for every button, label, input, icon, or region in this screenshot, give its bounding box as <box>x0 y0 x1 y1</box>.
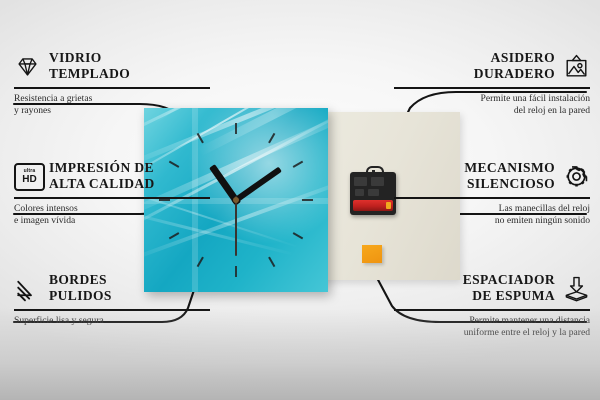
feature-subtitle: Colores intensos e imagen vívida <box>14 203 210 228</box>
feature-title: ESPACIADOR DE ESPUMA <box>463 272 555 305</box>
ultra-hd-icon: ultra HD <box>14 163 41 190</box>
feature-title: VIDRIO TEMPLADO <box>49 50 130 83</box>
feature-mecanismo-silencioso: MECANISMO SILENCIOSO Las manecillas del … <box>394 160 590 228</box>
feature-vidrio-templado: VIDRIO TEMPLADO Resistencia a grietas y … <box>14 50 210 118</box>
feature-divider <box>14 197 210 199</box>
feature-title: ASIDERO DURADERO <box>474 50 555 83</box>
infographic-canvas: VIDRIO TEMPLADO Resistencia a grietas y … <box>0 0 600 400</box>
feature-asidero-duradero: ASIDERO DURADERO Permite una fácil insta… <box>394 50 590 118</box>
diamond-icon <box>14 53 41 80</box>
feature-divider <box>394 309 590 311</box>
feature-subtitle: Permite mantener una distancia uniforme … <box>394 315 590 340</box>
foam-spacer-pad <box>362 245 382 263</box>
feature-title: MECANISMO SILENCIOSO <box>464 160 555 193</box>
feature-divider <box>14 309 210 311</box>
feature-espaciador-de-espuma: ESPACIADOR DE ESPUMA Permite mantener un… <box>394 272 590 340</box>
gear-icon <box>563 163 590 190</box>
feature-subtitle: Superficie lisa y segura <box>14 315 210 328</box>
foam-spacer-icon <box>563 275 590 302</box>
feature-subtitle: Las manecillas del reloj no emiten ningú… <box>394 203 590 228</box>
clock-movement <box>350 172 396 215</box>
clock-battery <box>353 200 393 211</box>
feature-divider <box>394 87 590 89</box>
feature-divider <box>14 87 210 89</box>
feature-divider <box>394 197 590 199</box>
feature-title: IMPRESIÓN DE ALTA CALIDAD <box>49 160 155 193</box>
feature-title: BORDES PULIDOS <box>49 272 112 305</box>
clock-second-hand <box>235 196 237 256</box>
feature-bordes-pulidos: BORDES PULIDOS Superficie lisa y segura <box>14 272 210 327</box>
picture-frame-icon <box>563 53 590 80</box>
feature-subtitle: Permite una fácil instalación del reloj … <box>394 93 590 118</box>
clock-center-cap <box>233 197 239 203</box>
feature-impresion-alta-calidad: ultra HD IMPRESIÓN DE ALTA CALIDAD Color… <box>14 160 210 228</box>
polished-edges-icon <box>14 275 41 302</box>
feature-subtitle: Resistencia a grietas y rayones <box>14 93 210 118</box>
